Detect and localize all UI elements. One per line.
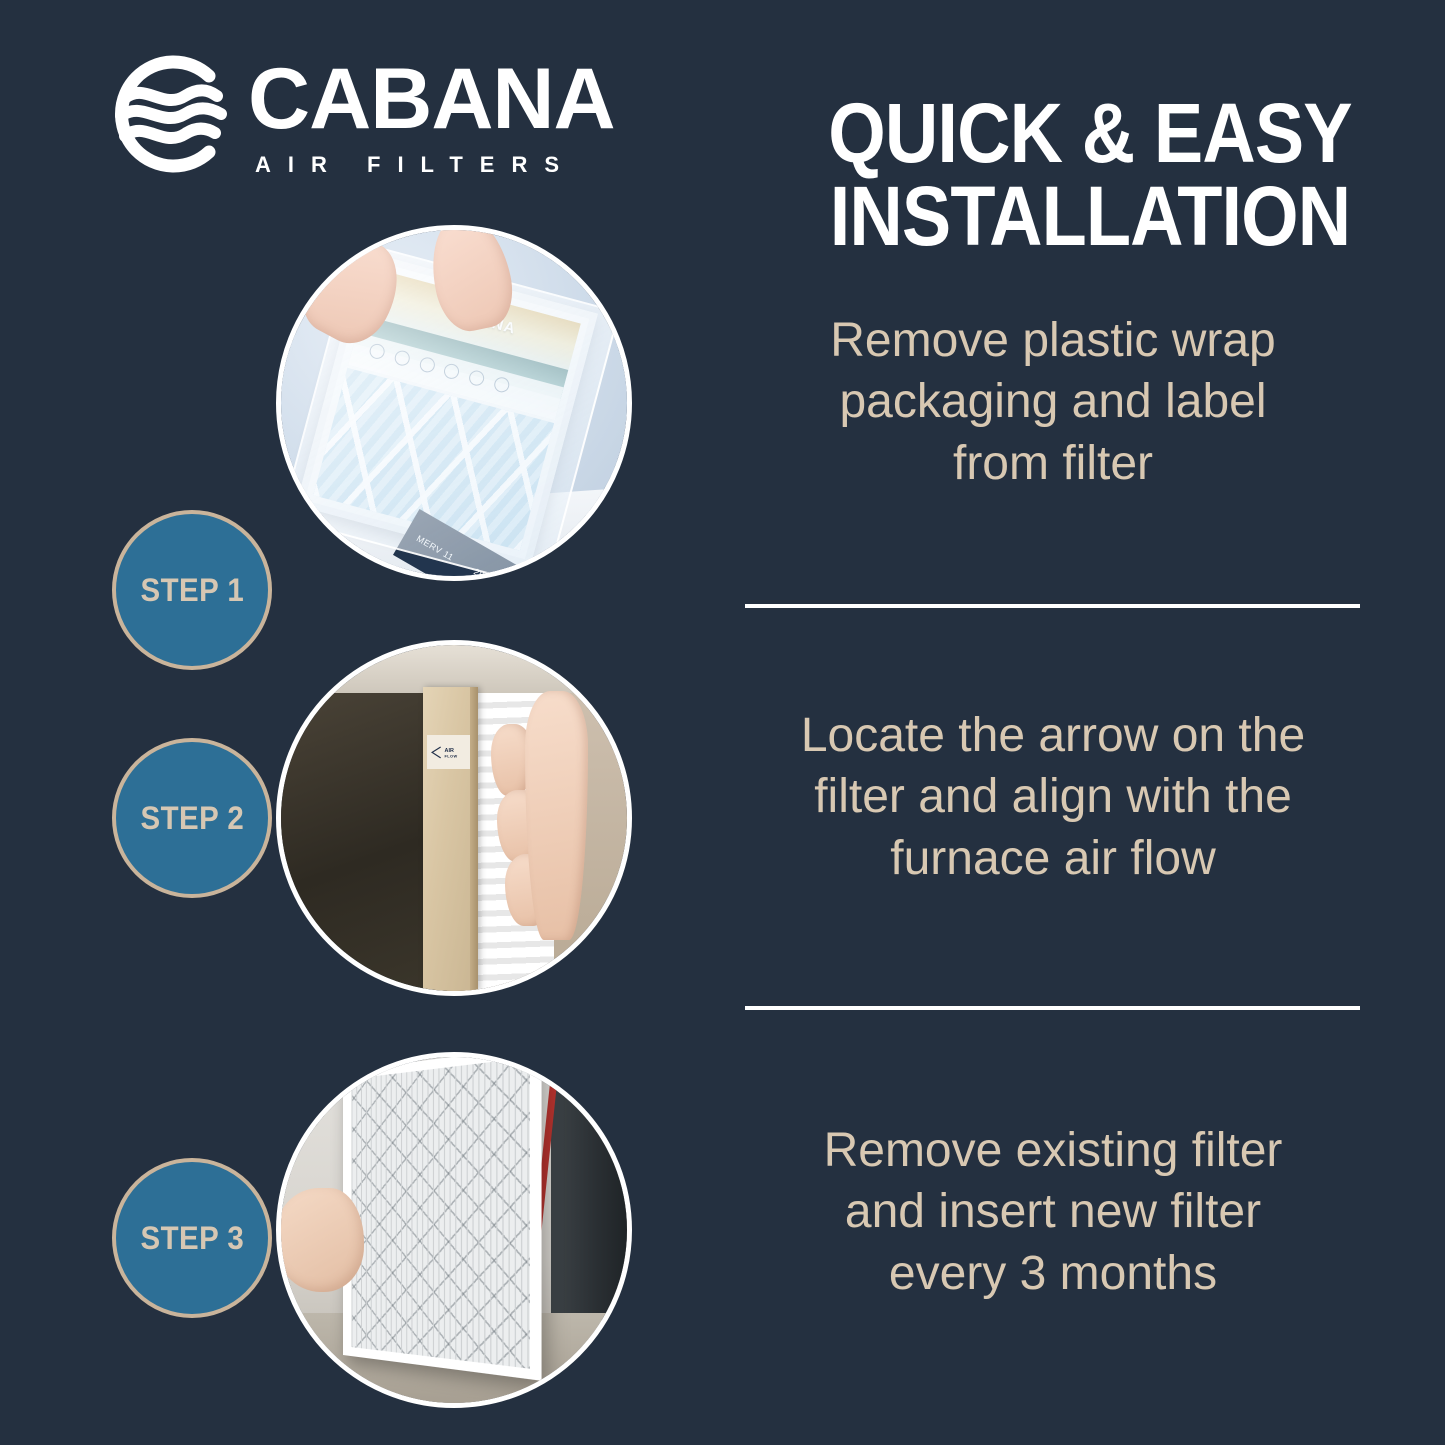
step-2-description: Locate the arrow on the filter and align… <box>745 705 1361 889</box>
step-1-line-3: from filter <box>745 433 1361 494</box>
step-1-photo: CABANA <box>276 225 632 581</box>
step-3-badge: STEP 3 <box>112 1158 272 1318</box>
headline-line-1: QUICK & EASY <box>782 92 1398 174</box>
cabana-wave-circle-icon <box>105 50 233 178</box>
step-3-line-3: every 3 months <box>745 1243 1361 1304</box>
step-3-description: Remove existing filter and insert new fi… <box>745 1120 1361 1304</box>
brand-logo: CABANA AIR FILTERS <box>100 40 700 180</box>
step-1-badge-label: STEP 1 <box>140 572 244 609</box>
brand-name: CABANA <box>248 56 615 142</box>
step-2-line-2: filter and align with the <box>745 766 1361 827</box>
step-3-photo-furnace <box>551 1078 627 1320</box>
step-1-line-1: Remove plastic wrap <box>745 310 1361 371</box>
step-3-photo-filter <box>343 1052 541 1380</box>
step-3-badge-label: STEP 3 <box>140 1220 244 1257</box>
step-3-photo <box>276 1052 632 1408</box>
step-3-line-2: and insert new filter <box>745 1181 1361 1242</box>
step-2-line-1: Locate the arrow on the <box>745 705 1361 766</box>
step-2-badge: STEP 2 <box>112 738 272 898</box>
air-flow-arrow-label: AIR FLOW <box>427 735 470 768</box>
step-1-line-2: packaging and label <box>745 371 1361 432</box>
step-row-2: AIR FLOW STEP 2 Locate the arrow on the … <box>0 610 1445 995</box>
step-2-badge-label: STEP 2 <box>140 800 244 837</box>
air-flow-arrow-icon: AIR FLOW <box>429 739 468 766</box>
step-3-line-1: Remove existing filter <box>745 1120 1361 1181</box>
brand-tagline: AIR FILTERS <box>255 152 576 178</box>
section-divider-1 <box>745 604 1360 608</box>
step-1-description: Remove plastic wrap packaging and label … <box>745 310 1361 494</box>
step-1-badge: STEP 1 <box>112 510 272 670</box>
section-divider-2 <box>745 1006 1360 1010</box>
installation-infographic: CABANA AIR FILTERS QUICK & EASY INSTALLA… <box>0 0 1445 1445</box>
step-2-photo-filter-frame: AIR FLOW <box>423 687 478 991</box>
step-2-photo: AIR FLOW <box>276 640 632 996</box>
step-row-3: STEP 3 Remove existing filter and insert… <box>0 1020 1445 1430</box>
step-row-1: CABANA <box>0 190 1445 600</box>
step-2-line-3: furnace air flow <box>745 828 1361 889</box>
svg-text:FLOW: FLOW <box>445 753 458 758</box>
step-3-hand <box>276 1188 364 1292</box>
step-2-hand <box>489 680 627 957</box>
